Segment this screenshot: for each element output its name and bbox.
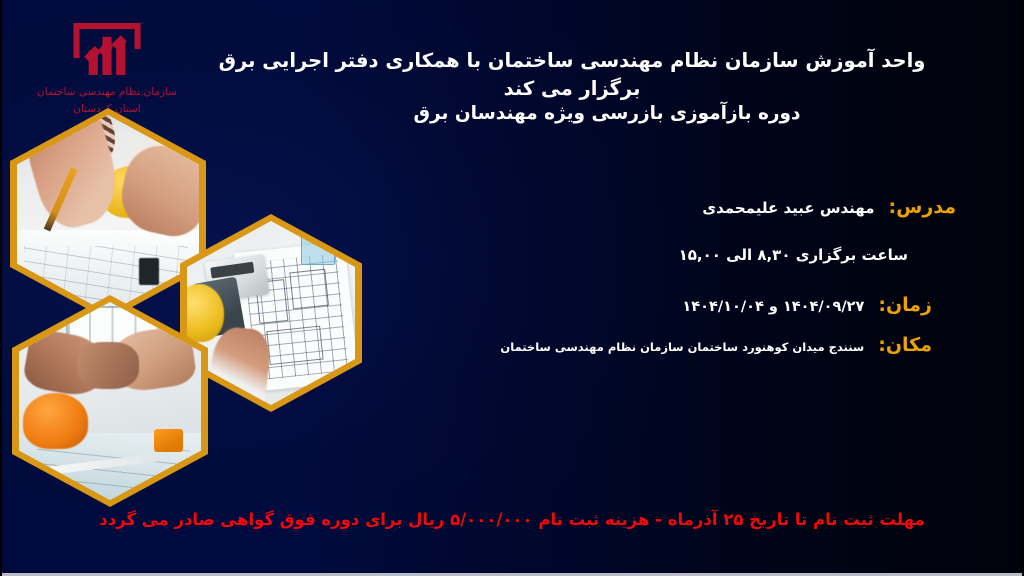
photo-b-pens bbox=[303, 221, 333, 239]
photo-b-pen-cup bbox=[301, 225, 335, 265]
photo-b-arm bbox=[206, 325, 272, 405]
photo-handshake bbox=[19, 302, 201, 500]
photo-c-hardhat bbox=[23, 393, 89, 448]
instructor-value: مهندس عبید علیمحمدی bbox=[702, 199, 874, 217]
photo-a-blueprint-lines bbox=[24, 246, 188, 301]
detail-row-place: مکان: سنندج میدان کوهنورد ساختمان سازمان… bbox=[522, 334, 992, 356]
photo-c-tape-measure bbox=[154, 429, 183, 453]
place-value: سنندج میدان کوهنورد ساختمان سازمان نظام … bbox=[500, 340, 864, 354]
hexagon-photo-blueprint-hands bbox=[10, 108, 206, 320]
hexagon-photo-blueprint-calculator-frame bbox=[187, 221, 355, 405]
place-label: مکان: bbox=[878, 334, 932, 356]
detail-row-instructor: مدرس: مهندس عبید علیمحمدی bbox=[522, 196, 992, 218]
registration-notice: مهلت ثبت نام تا تاریخ ۲۵ آذرماه - هزینه … bbox=[2, 508, 1022, 532]
photo-blueprint-hands bbox=[17, 115, 199, 313]
date-label: زمان: bbox=[878, 294, 932, 316]
photo-blueprint-calculator bbox=[187, 221, 355, 405]
date-value: ۱۴۰۴/۰۹/۲۷ و ۱۴۰۴/۱۰/۰۴ bbox=[682, 299, 864, 315]
photo-a-right-hand bbox=[114, 139, 199, 242]
course-announcement-poster: سازمان نظام مهندسی ساختمان استان کردستان… bbox=[0, 0, 1024, 576]
hexagon-photo-gallery bbox=[2, 0, 422, 576]
photo-b-plan-room-3 bbox=[266, 325, 322, 364]
photo-c-handshake-grip bbox=[77, 342, 139, 390]
course-details: مدرس: مهندس عبید علیمحمدی ساعت برگزاری ۸… bbox=[522, 196, 992, 370]
instructor-label: مدرس: bbox=[889, 196, 957, 218]
photo-a-clamp bbox=[139, 258, 159, 286]
hexagon-photo-handshake bbox=[12, 295, 208, 507]
photo-b-plan-room-2 bbox=[289, 269, 328, 309]
hexagon-photo-blueprint-hands-frame bbox=[17, 115, 199, 313]
detail-row-time: ساعت برگزاری ۸,۳۰ الی ۱۵,۰۰ bbox=[522, 246, 992, 264]
hexagon-photo-handshake-frame bbox=[19, 302, 201, 500]
detail-row-date: زمان: ۱۴۰۴/۰۹/۲۷ و ۱۴۰۴/۱۰/۰۴ bbox=[522, 294, 992, 316]
time-text: ساعت برگزاری ۸,۳۰ الی ۱۵,۰۰ bbox=[679, 246, 908, 264]
